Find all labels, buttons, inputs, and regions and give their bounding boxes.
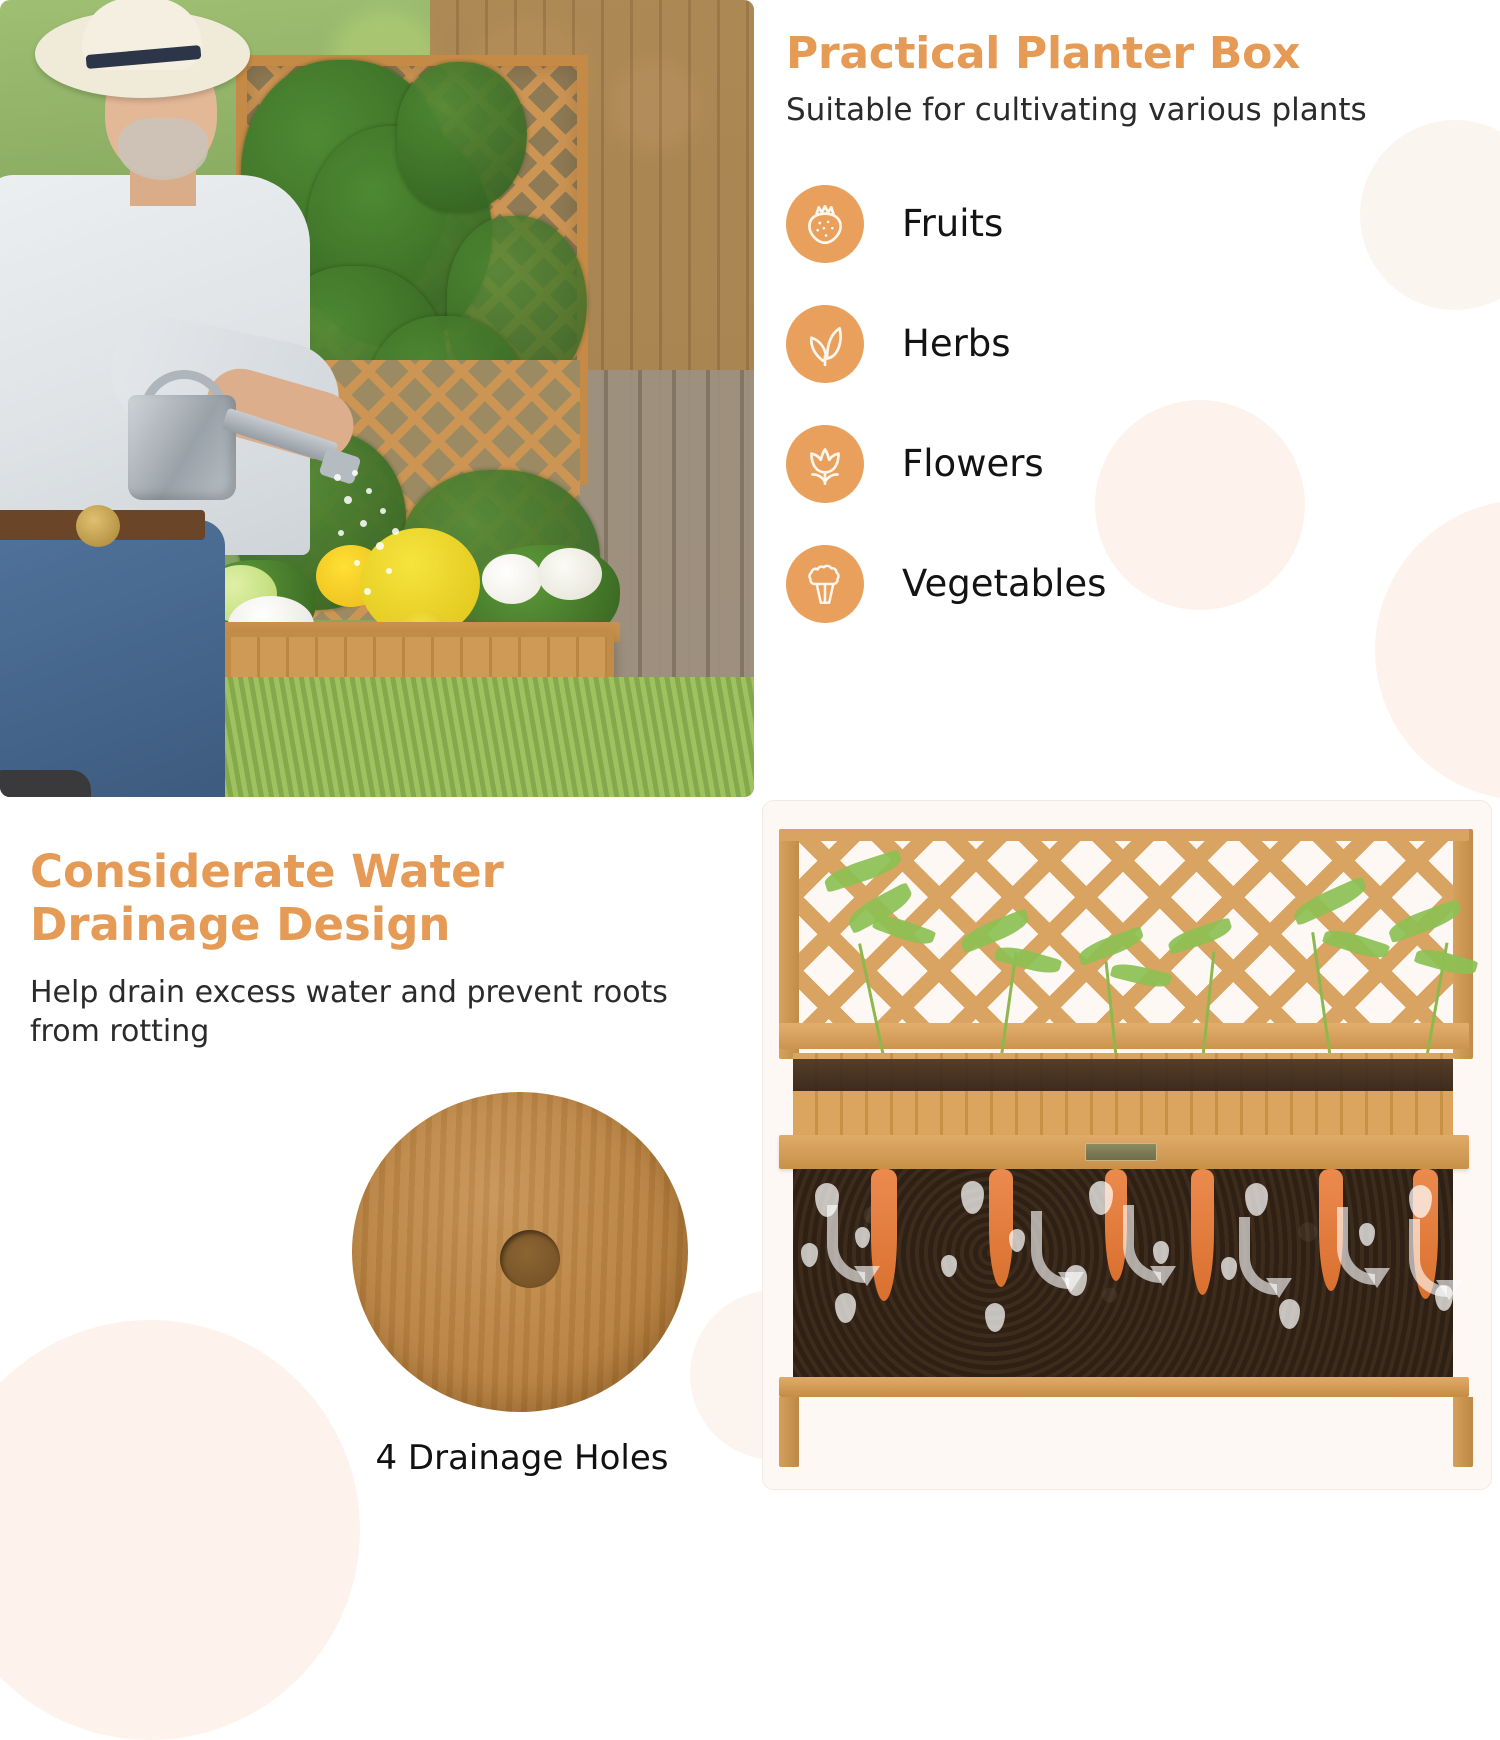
feature-label: Flowers [902, 442, 1044, 485]
feature-label: Fruits [902, 202, 1003, 245]
watering-can [128, 395, 236, 500]
water-flow-arrow [1239, 1217, 1277, 1295]
water-droplet [961, 1181, 984, 1214]
water-droplet [1221, 1257, 1237, 1280]
water-droplet [801, 1243, 818, 1267]
page-title: Practical Planter Box [786, 30, 1486, 78]
water-droplet [985, 1303, 1005, 1332]
water-droplet [1279, 1299, 1300, 1329]
water-flow-arrow [827, 1205, 865, 1283]
water-spray [330, 468, 450, 618]
drainage-hole [500, 1230, 560, 1288]
leaves-icon [786, 305, 864, 383]
decorative-circle [0, 1320, 360, 1740]
water-droplet [941, 1255, 957, 1277]
man-jeans [0, 520, 225, 797]
man-belt-buckle [76, 505, 120, 547]
water-flow-arrow [1409, 1219, 1447, 1297]
drainage-section: Considerate Water Drainage Design Help d… [30, 845, 730, 1051]
water-flow-arrow [1031, 1211, 1069, 1289]
feature-label: Herbs [902, 322, 1011, 365]
drainage-title-line2: Drainage Design [30, 898, 730, 951]
planter-leg [779, 1397, 799, 1467]
drainage-disc-caption: 4 Drainage Holes [352, 1438, 692, 1478]
wood-disc [352, 1092, 688, 1412]
tulip-icon [786, 425, 864, 503]
feature-list: Fruits Herbs Flowers [786, 164, 1486, 644]
feature-item-vegetables: Vegetables [786, 524, 1486, 644]
feature-item-flowers: Flowers [786, 404, 1486, 524]
water-droplet [835, 1293, 856, 1323]
soil-crosssection [793, 1169, 1453, 1379]
drainage-disc-figure: 4 Drainage Holes [352, 1092, 692, 1478]
broccoli-icon [786, 545, 864, 623]
feature-item-fruits: Fruits [786, 164, 1486, 284]
water-flow-arrow [1337, 1207, 1375, 1285]
feature-item-herbs: Herbs [786, 284, 1486, 404]
flower-white [482, 554, 542, 604]
trellis-top-rail [779, 829, 1469, 841]
water-droplet [1009, 1229, 1025, 1252]
feature-label: Vegetables [902, 562, 1106, 605]
brand-plaque [1085, 1143, 1157, 1161]
drainage-subtitle: Help drain excess water and prevent root… [30, 973, 730, 1051]
garden-photo [0, 0, 754, 797]
planter-bottom-rail [779, 1377, 1469, 1397]
man-beard [118, 118, 208, 180]
carrot-root [1191, 1169, 1214, 1295]
planter-crosssection-card [762, 800, 1492, 1490]
topsoil-strip [793, 1059, 1453, 1091]
drainage-title-line1: Considerate Water [30, 845, 730, 898]
man-shoe [0, 770, 91, 797]
planter-leg [1453, 1397, 1473, 1467]
water-droplet [1245, 1183, 1268, 1216]
features-section: Practical Planter Box Suitable for culti… [786, 30, 1486, 644]
strawberry-icon [786, 185, 864, 263]
water-flow-arrow [1123, 1205, 1161, 1283]
ivy-foliage [397, 62, 527, 212]
flower-white [538, 548, 602, 600]
page-subtitle: Suitable for cultivating various plants [786, 92, 1486, 129]
carrot-root [989, 1169, 1013, 1287]
